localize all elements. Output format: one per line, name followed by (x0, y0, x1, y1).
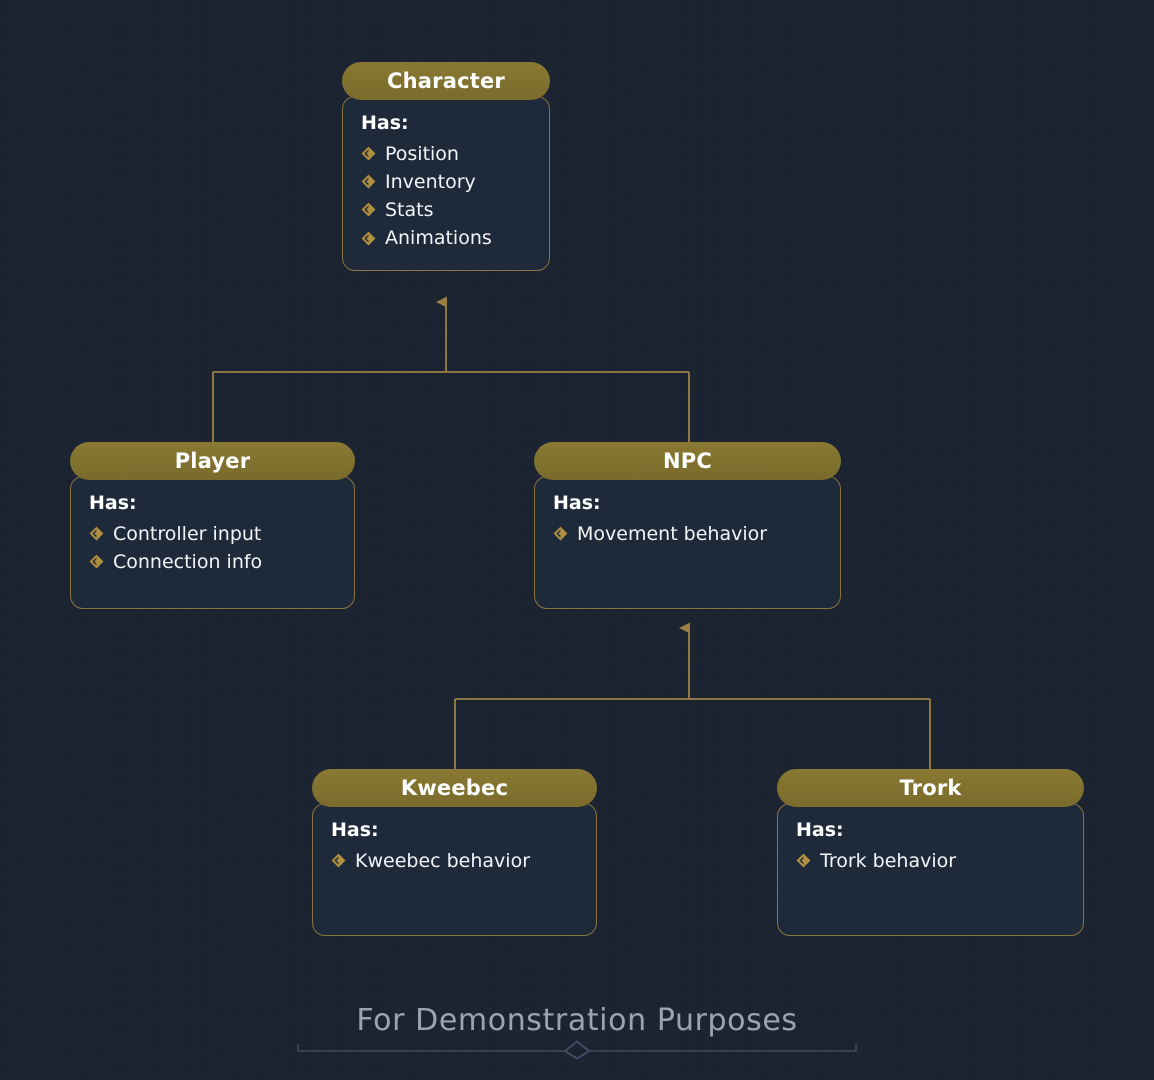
list-item: Kweebec behavior (331, 847, 580, 875)
node-header-character[interactable]: Character (342, 62, 550, 100)
footer-caption: For Demonstration Purposes (356, 1004, 797, 1039)
diamond-bullet-icon (361, 231, 376, 246)
attribute-label: Trork behavior (820, 847, 956, 875)
attribute-label: Kweebec behavior (355, 847, 530, 875)
node-body-npc: Has: Movement behavior (534, 476, 841, 609)
attribute-list-kweebec: Kweebec behavior (331, 847, 580, 875)
footer-divider-ornament (294, 1040, 860, 1062)
list-item: Position (361, 140, 533, 168)
node-body-character: Has: Position Inventory (342, 96, 550, 271)
node-header-trork[interactable]: Trork (777, 769, 1084, 807)
diamond-bullet-icon (361, 174, 376, 189)
node-title-kweebec: Kweebec (401, 776, 508, 800)
list-item: Controller input (89, 520, 338, 548)
diamond-bullet-icon (361, 202, 376, 217)
node-body-kweebec: Has: Kweebec behavior (312, 803, 597, 936)
node-kweebec[interactable]: Kweebec Has: Kweebec behavior (312, 769, 597, 936)
node-title-character: Character (387, 69, 505, 93)
list-item: Movement behavior (553, 520, 824, 548)
attribute-list-trork: Trork behavior (796, 847, 1067, 875)
diamond-bullet-icon (89, 554, 104, 569)
list-item: Trork behavior (796, 847, 1067, 875)
node-trork[interactable]: Trork Has: Trork behavior (777, 769, 1084, 936)
has-label-character: Has: (361, 111, 533, 137)
node-character[interactable]: Character Has: Position Inventory (342, 62, 550, 271)
footer: For Demonstration Purposes (0, 1004, 1154, 1063)
attribute-label: Connection info (113, 548, 262, 576)
list-item: Inventory (361, 168, 533, 196)
node-player[interactable]: Player Has: Controller input Connection … (70, 442, 355, 609)
node-title-player: Player (175, 449, 251, 473)
node-header-kweebec[interactable]: Kweebec (312, 769, 597, 807)
node-npc[interactable]: NPC Has: Movement behavior (534, 442, 841, 609)
list-item: Stats (361, 196, 533, 224)
has-label-kweebec: Has: (331, 818, 580, 844)
attribute-label: Position (385, 140, 459, 168)
has-label-trork: Has: (796, 818, 1067, 844)
diamond-bullet-icon (553, 526, 568, 541)
node-header-npc[interactable]: NPC (534, 442, 841, 480)
attribute-list-character: Position Inventory Stats (361, 140, 533, 252)
node-body-player: Has: Controller input Connection info (70, 476, 355, 609)
has-label-player: Has: (89, 491, 338, 517)
list-item: Animations (361, 224, 533, 252)
has-label-npc: Has: (553, 491, 824, 517)
diamond-bullet-icon (89, 526, 104, 541)
node-header-player[interactable]: Player (70, 442, 355, 480)
attribute-label: Animations (385, 224, 492, 252)
node-title-npc: NPC (663, 449, 712, 473)
node-title-trork: Trork (899, 776, 961, 800)
attribute-label: Controller input (113, 520, 261, 548)
diamond-bullet-icon (331, 853, 346, 868)
node-body-trork: Has: Trork behavior (777, 803, 1084, 936)
diamond-bullet-icon (361, 146, 376, 161)
attribute-label: Movement behavior (577, 520, 767, 548)
diamond-bullet-icon (796, 853, 811, 868)
attribute-label: Inventory (385, 168, 476, 196)
attribute-list-player: Controller input Connection info (89, 520, 338, 576)
list-item: Connection info (89, 548, 338, 576)
attribute-list-npc: Movement behavior (553, 520, 824, 548)
attribute-label: Stats (385, 196, 434, 224)
